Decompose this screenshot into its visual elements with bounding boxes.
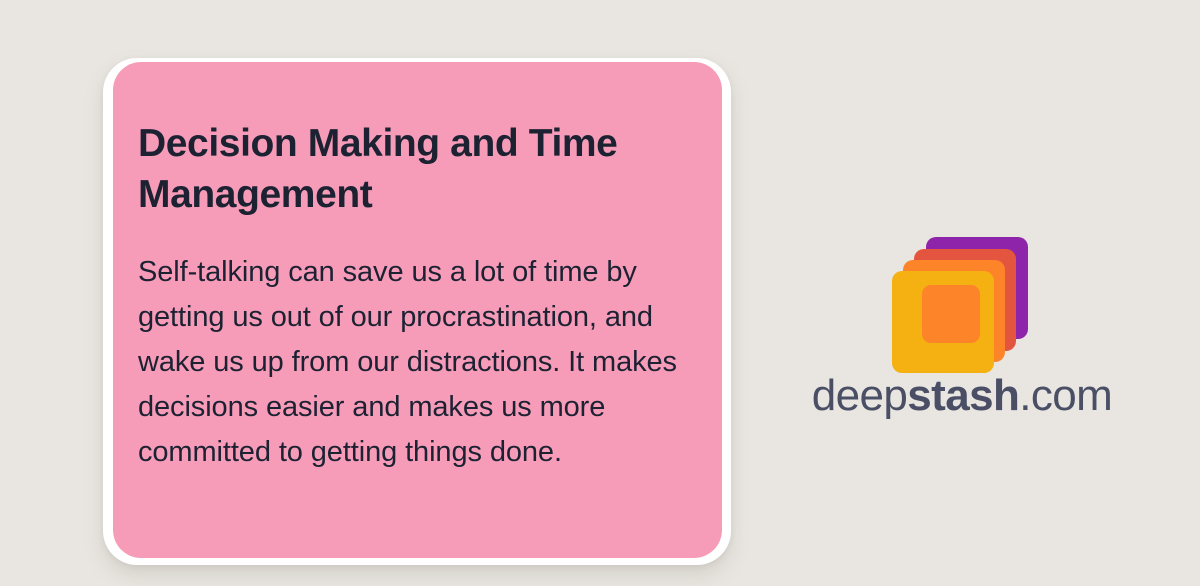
- wordmark-deep: deep: [812, 371, 907, 420]
- idea-card-surface: Decision Making and Time Management Self…: [113, 62, 722, 558]
- idea-card[interactable]: Decision Making and Time Management Self…: [103, 58, 731, 565]
- wordmark-tld: com: [1031, 371, 1112, 420]
- wordmark-stash: stash: [907, 371, 1019, 420]
- idea-card-title: Decision Making and Time Management: [138, 118, 698, 220]
- screenshot-canvas: Decision Making and Time Management Self…: [0, 0, 1200, 586]
- wordmark-dot: .: [1019, 371, 1031, 420]
- deepstash-cube-logo-icon: [886, 208, 1046, 368]
- brand-block: deepstash.com: [782, 196, 1142, 426]
- deepstash-wordmark[interactable]: deepstash.com: [782, 370, 1142, 422]
- idea-card-body-text: Self-talking can save us a lot of time b…: [138, 250, 700, 475]
